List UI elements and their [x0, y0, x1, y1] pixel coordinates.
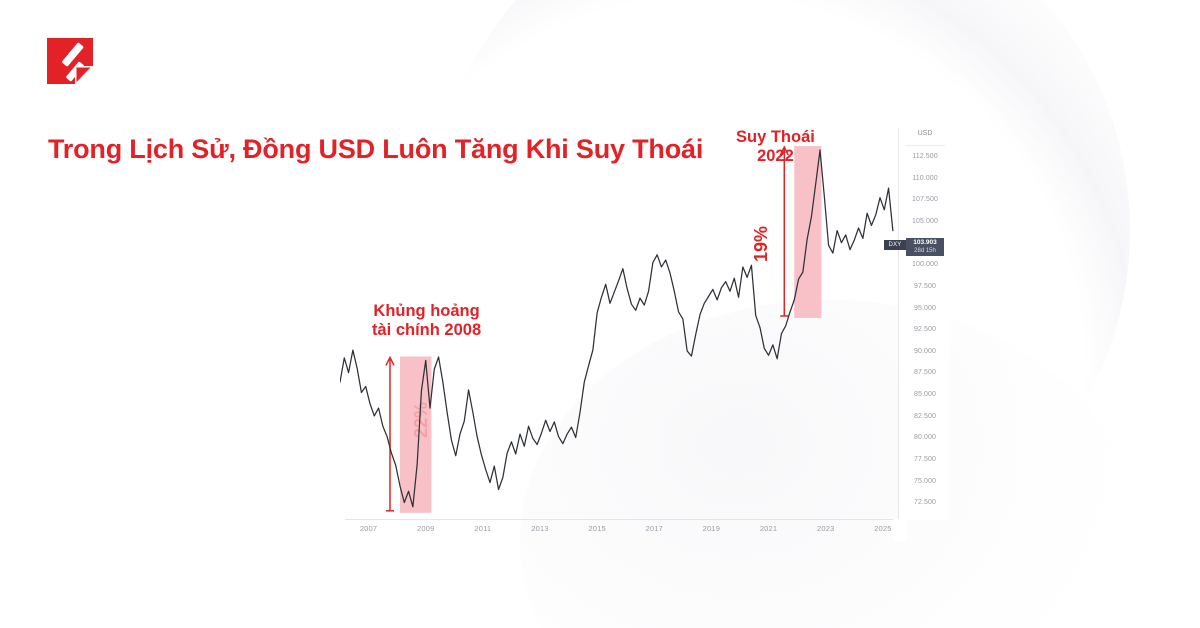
dxy-line-chart	[340, 118, 920, 538]
highlight-band	[400, 356, 431, 512]
ticker-symbol-badge[interactable]: DXY	[884, 240, 906, 250]
price-axis-divider	[905, 145, 945, 146]
time-tick-label: 2011	[474, 524, 491, 533]
time-tick-label: 2015	[588, 524, 606, 533]
price-tick-label: 107.500	[899, 196, 951, 203]
chart-plot-area	[340, 118, 920, 538]
time-axis-line	[345, 519, 900, 520]
price-tick-label: 97.500	[899, 283, 951, 290]
price-tick-label: 80.000	[899, 434, 951, 441]
price-axis[interactable]: USD 112.500110.000107.500105.000102.5001…	[898, 128, 950, 520]
time-tick-label: 2019	[703, 524, 721, 533]
price-tick-label: 110.000	[899, 175, 951, 182]
time-tick-label: 2009	[417, 524, 435, 533]
axis-right-mask	[893, 519, 907, 541]
time-tick-label: 2013	[531, 524, 549, 533]
infographic-canvas: Trong Lịch Sử, Đồng USD Luôn Tăng Khi Su…	[0, 0, 1200, 628]
price-countdown: 28d 15h	[906, 247, 944, 255]
price-axis-header: USD	[899, 130, 951, 141]
gain-arrow	[386, 357, 394, 510]
price-tick-label: 87.500	[899, 369, 951, 376]
time-tick-label: 2025	[874, 524, 892, 533]
brand-logo-icon	[45, 36, 95, 86]
price-tick-label: 77.500	[899, 456, 951, 463]
current-price-value: 103.903	[906, 239, 944, 247]
price-tick-label: 90.000	[899, 348, 951, 355]
price-tick-label: 95.000	[899, 305, 951, 312]
price-tick-label: 100.000	[899, 261, 951, 268]
highlight-bands	[400, 146, 821, 513]
gain-arrows	[386, 147, 788, 511]
time-tick-label: 2017	[646, 524, 664, 533]
price-tick-label: 82.500	[899, 413, 951, 420]
price-tick-label: 112.500	[899, 153, 951, 160]
price-tick-label: 105.000	[899, 218, 951, 225]
price-tick-label: 85.000	[899, 391, 951, 398]
time-tick-label: 2023	[817, 524, 835, 533]
current-price-badge[interactable]: 103.903 28d 15h	[906, 238, 944, 256]
time-tick-label: 2007	[360, 524, 378, 533]
price-tick-label: 75.000	[899, 478, 951, 485]
price-tick-label: 92.500	[899, 326, 951, 333]
time-tick-label: 2021	[760, 524, 778, 533]
gain-arrow	[780, 147, 788, 316]
price-tick-label: 72.500	[899, 499, 951, 506]
